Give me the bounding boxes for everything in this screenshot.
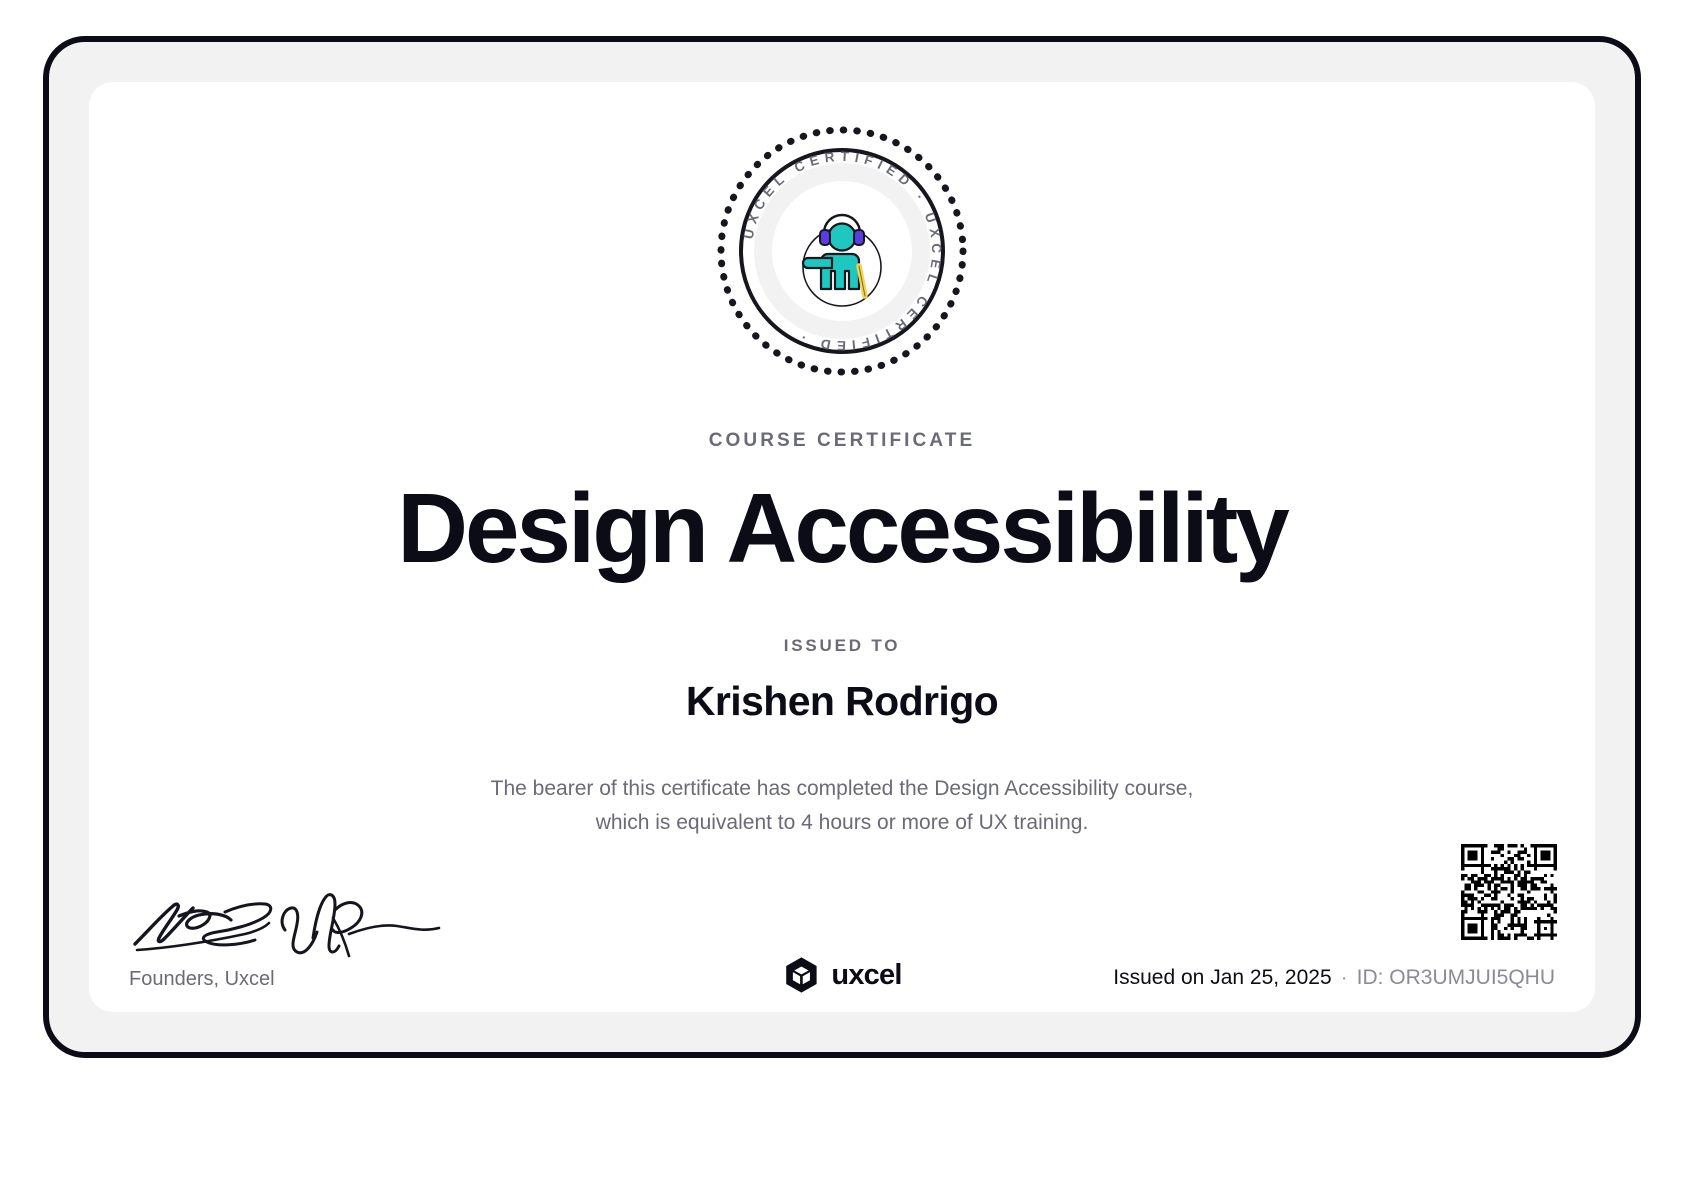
uxcel-wordmark: uxcel bbox=[831, 959, 901, 992]
uxcel-certified-badge: UXCEL CERTIFIED · UXCEL CERTIFIED · bbox=[711, 120, 973, 382]
certificate-frame: UXCEL CERTIFIED · UXCEL CERTIFIED · bbox=[43, 36, 1641, 1058]
signature-two bbox=[282, 895, 439, 956]
founder-signatures bbox=[127, 872, 457, 960]
course-certificate-eyebrow: COURSE CERTIFICATE bbox=[89, 430, 1595, 452]
certificate-id: ID: OR3UMJUI5QHU bbox=[1357, 966, 1555, 989]
course-title: Design Accessibility bbox=[89, 476, 1595, 582]
certificate-card: UXCEL CERTIFIED · UXCEL CERTIFIED · bbox=[89, 82, 1595, 1012]
certificate-description: The bearer of this certificate has compl… bbox=[392, 772, 1292, 840]
verification-qr-code[interactable] bbox=[1461, 844, 1557, 940]
issued-to-label: ISSUED TO bbox=[89, 636, 1595, 656]
uxcel-logo: uxcel bbox=[782, 956, 901, 994]
founders-label: Founders, Uxcel bbox=[129, 968, 275, 991]
issue-info: Issued on Jan 25, 2025·ID: OR3UMJUI5QHU bbox=[1113, 966, 1555, 990]
issue-date: Issued on Jan 25, 2025 bbox=[1113, 966, 1331, 989]
signature-one bbox=[135, 904, 271, 950]
recipient-name: Krishen Rodrigo bbox=[89, 678, 1595, 725]
description-line-2: which is equivalent to 4 hours or more o… bbox=[596, 811, 1089, 834]
issue-separator: · bbox=[1341, 966, 1348, 989]
description-line-1: The bearer of this certificate has compl… bbox=[491, 777, 1194, 800]
uxcel-hexagon-icon bbox=[782, 956, 820, 994]
